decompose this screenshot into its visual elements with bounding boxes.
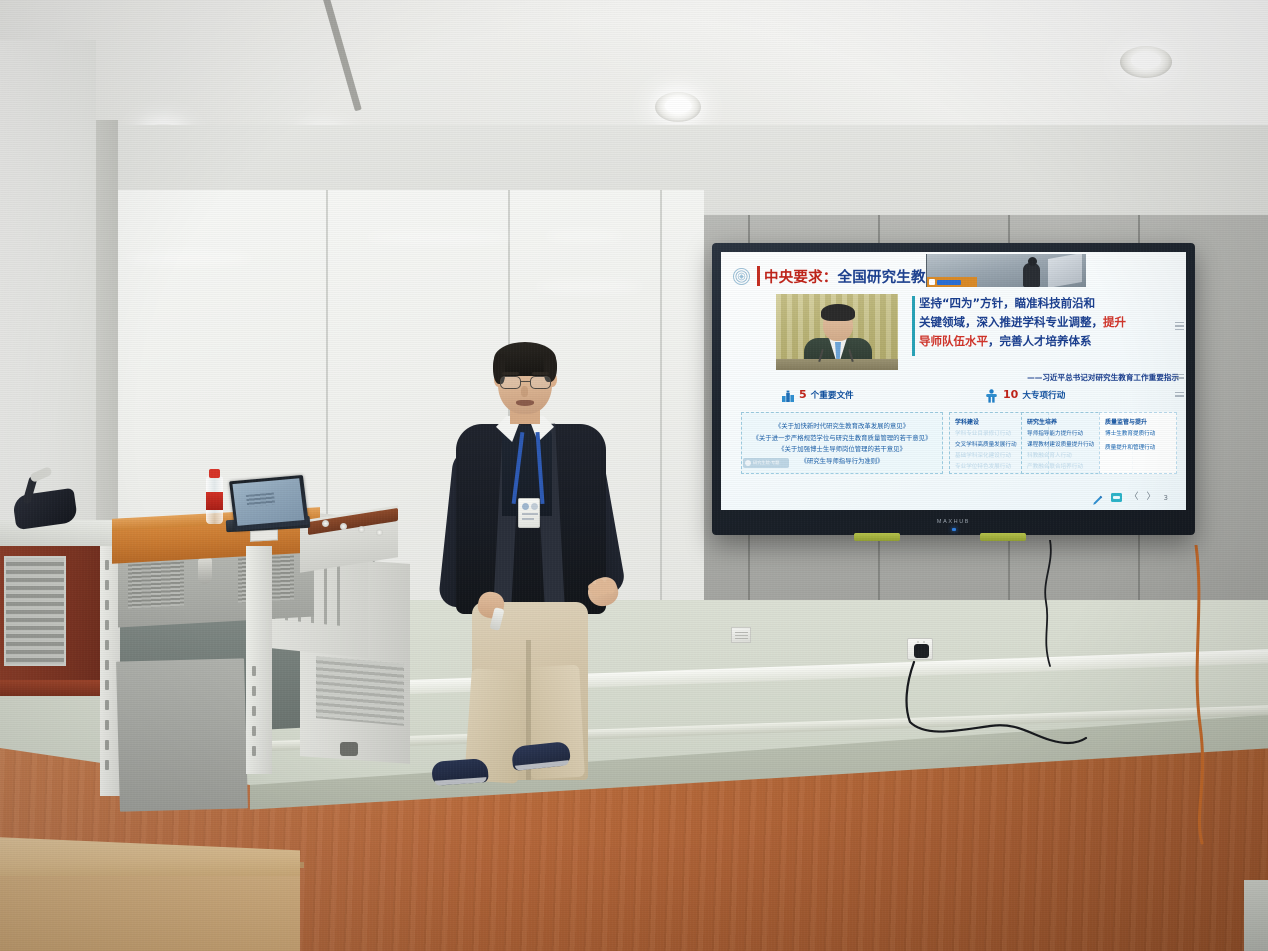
column-item: 博士生教育提质行动 (1105, 429, 1171, 437)
wall-data-plate-detail (735, 632, 748, 639)
scroll-mark (1175, 322, 1184, 323)
documents-count: 5 (799, 388, 807, 401)
document-item: 《研究生导师指导行为准则》 (800, 456, 883, 465)
podium-caster (340, 742, 358, 756)
whiteboard-gloss (544, 230, 624, 242)
actions-count: 10 (1003, 388, 1018, 401)
badge-text-line (522, 513, 538, 515)
right-edge-furniture (1244, 880, 1268, 951)
podium-control-button[interactable] (322, 520, 329, 527)
scroll-mark (1175, 329, 1184, 330)
column-item: 质量提升和管理行动 (1105, 443, 1171, 451)
person-action-icon (985, 388, 999, 401)
scroll-mark (1175, 374, 1184, 375)
vent-slot (105, 660, 109, 670)
documents-label: 个重要文件 (811, 389, 854, 401)
photo-hair (821, 304, 855, 321)
badge-photo (522, 503, 529, 510)
scroll-mark (1175, 392, 1184, 393)
quote-line-1: 坚持“四为”方针，瞄准科技前沿和 (919, 296, 1095, 310)
quote-line-2a: 关键领域，深入推进学科专业调整， (919, 315, 1103, 329)
camera-icon (929, 279, 935, 285)
vent-slot (105, 580, 109, 590)
presenter-brow-right (532, 372, 549, 375)
presenter (420, 340, 650, 790)
quote-line-3a: 导师队伍水平 (919, 334, 988, 348)
section-documents: 5 个重要文件 (781, 388, 854, 401)
lecture-hall-photo: 中央要求：全国研究生教育会议（2020年7月 坚持“四为”方针，瞄准科技前沿和 (0, 0, 1268, 951)
quote-line-2b: 提升 (1103, 315, 1126, 329)
whiteboard-gloss (124, 250, 254, 266)
vent-slot (252, 666, 256, 676)
podium-access-door[interactable] (116, 658, 248, 811)
document-item: 《关于进一步严格规范学位与研究生教育质量管理的若干意见》 (753, 433, 932, 442)
leader-photo (776, 294, 898, 370)
hdmi-cable-wall (1020, 540, 1080, 670)
vent-slot (252, 726, 256, 736)
orange-cable (1178, 545, 1248, 845)
id-badge (518, 498, 540, 528)
display-mount-bracket (980, 533, 1026, 541)
plug-pin (917, 641, 919, 643)
podium-brand-plate (250, 529, 278, 541)
display-power-led (952, 528, 956, 531)
bottle-label (206, 492, 223, 510)
laptop-display-content (246, 492, 276, 507)
downlight-core (1131, 52, 1161, 69)
podium-control-button[interactable] (376, 529, 383, 536)
whiteboard-gloss (364, 230, 514, 244)
podium-base-vents (316, 656, 404, 726)
slide-quote: 坚持“四为”方针，瞄准科技前沿和 关键领域，深入推进学科专业调整，提升 导师队伍… (919, 294, 1181, 351)
document-item: 《关于加强博士生导师岗位管理的若干意见》 (778, 444, 906, 453)
laptop-display (232, 478, 304, 526)
display-screen[interactable]: 中央要求：全国研究生教育会议（2020年7月 坚持“四为”方针，瞄准科技前沿和 (721, 252, 1186, 510)
podium-lock[interactable] (198, 558, 212, 585)
downlight-5 (1120, 46, 1172, 78)
wall-data-plate[interactable] (731, 627, 751, 643)
actions-label: 大专项行动 (1022, 389, 1065, 401)
documents-icon (781, 388, 795, 401)
shoe-sole (435, 777, 487, 786)
slide-watermark: 研究生院·专题 (743, 458, 789, 468)
document-item: 《关于加快新时代研究生教育改革发展的意见》 (775, 421, 909, 430)
pip-status-text (937, 280, 961, 285)
watermark-text: 研究生院·专题 (753, 460, 779, 466)
vent-slot (105, 600, 109, 610)
camera-pip-overlay[interactable] (926, 254, 1086, 287)
slide-scroll-marks[interactable] (1175, 322, 1184, 330)
laptop-screen[interactable] (229, 475, 309, 531)
glasses-bridge (521, 381, 530, 382)
plug-pin (923, 641, 925, 643)
presenter-mouth (516, 400, 534, 406)
cabinet-vent-grille (4, 556, 66, 666)
glasses-lens-right (530, 376, 551, 389)
quote-line-3b: ，完善人才培养体系 (988, 334, 1092, 348)
university-logo-icon (733, 268, 750, 285)
pip-person (1023, 263, 1040, 287)
vent-slot (105, 640, 109, 650)
vent-slot (105, 620, 109, 630)
display-brand-label: MAXHUB (937, 519, 970, 525)
scroll-mark (1175, 395, 1184, 396)
bottle-cap (209, 469, 220, 478)
vent-slot (105, 720, 109, 730)
vent-slot (105, 760, 109, 770)
vent-slot (252, 686, 256, 696)
whiteboard-gloss (534, 280, 644, 293)
pip-status-bar (927, 277, 977, 287)
presenter-brow-left (502, 372, 519, 375)
presenter-nose (521, 386, 528, 397)
section-actions: 10 大专项行动 (985, 388, 1065, 401)
column-quality: 质量监管与提升 博士生教育提质行动 质量提升和管理行动 (1099, 412, 1177, 474)
presenter-shoe-left (431, 758, 489, 786)
display-mount-bracket (854, 533, 900, 541)
quote-attribution: ——习近平总书记对研究生教育工作重要指示 (921, 372, 1179, 383)
vent-slot (105, 680, 109, 690)
podium-speaker-left (128, 562, 184, 609)
title-accent-bar (757, 266, 760, 286)
pip-whiteboard (1048, 254, 1082, 287)
slide-scroll-marks[interactable] (1175, 374, 1184, 379)
slide-scroll-marks[interactable] (1175, 392, 1184, 397)
badge-logo (531, 503, 538, 510)
vent-slot (252, 746, 256, 756)
vent-slot (105, 700, 109, 710)
display-chin (721, 484, 1186, 510)
watermark-icon (745, 460, 751, 466)
photo-desk (776, 359, 898, 370)
front-desk-front (0, 866, 300, 951)
vent-slot (252, 706, 256, 716)
interactive-display[interactable]: 中央要求：全国研究生教育会议（2020年7月 坚持“四为”方针，瞄准科技前沿和 (712, 243, 1195, 535)
badge-text-line (522, 518, 534, 520)
downlight-4 (655, 92, 701, 122)
slide-title-red: 中央要求： (764, 270, 838, 286)
vent-slot (105, 740, 109, 750)
column-header: 质量监管与提升 (1105, 417, 1171, 426)
podium-mid-column (246, 546, 272, 774)
scroll-mark (1175, 325, 1184, 326)
scroll-mark (1175, 377, 1184, 378)
podium-control-button[interactable] (340, 523, 347, 530)
podium-control-button[interactable] (358, 526, 365, 533)
glasses-lens-left (500, 376, 521, 389)
power-cable (880, 650, 1140, 750)
vent-slot (105, 560, 109, 570)
water-bottle[interactable] (206, 476, 223, 524)
quote-accent-bar (912, 296, 915, 356)
whiteboard-seam (660, 190, 662, 620)
downlight-core (665, 98, 692, 114)
presentation-slide[interactable]: 中央要求：全国研究生教育会议（2020年7月 坚持“四为”方针，瞄准科技前沿和 (721, 252, 1186, 510)
pip-person-head (1028, 257, 1037, 266)
